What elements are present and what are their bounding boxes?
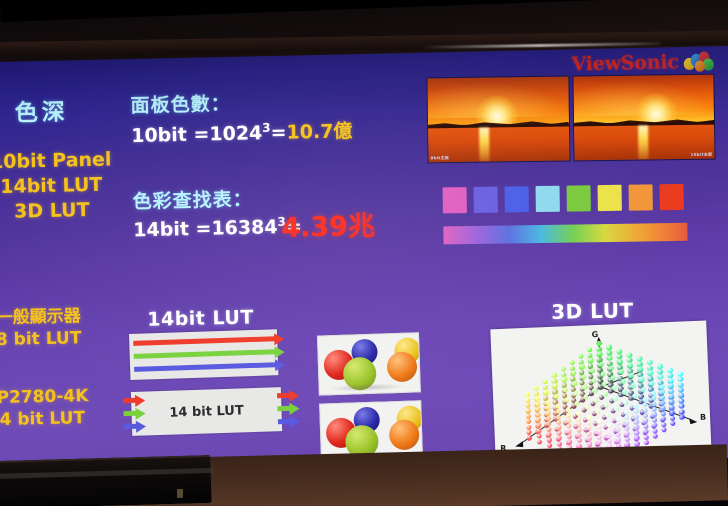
cube-color-dot	[582, 384, 588, 390]
presentation-slide: ViewSonic 色深 10bit Panel 14bit LUT 3D LU…	[0, 46, 728, 474]
cube-color-dot	[586, 431, 592, 437]
color-swatch	[505, 186, 529, 212]
cube-color-dot	[587, 442, 593, 448]
cube-color-dot	[545, 410, 551, 416]
panel-colors-eq-equals: =	[270, 122, 286, 144]
color-swatch	[443, 187, 467, 213]
cube-color-dot	[634, 425, 640, 431]
cube-color-dot	[567, 439, 573, 445]
panel-colors-result: 10.7億	[286, 120, 352, 143]
cube-color-dot	[642, 407, 648, 413]
cube-color-dot	[557, 441, 563, 447]
color-swatch	[474, 187, 498, 213]
cube-color-dot	[592, 388, 598, 394]
cube-color-dot	[556, 425, 562, 431]
lut3d-cube-panel: G B R	[490, 321, 711, 460]
cube-color-dot	[642, 397, 648, 403]
cube-color-dot	[633, 414, 639, 420]
feature-list-item-2: 3D LUT	[0, 197, 117, 225]
cube-color-dot	[623, 399, 629, 405]
blue-channel-output-stub	[278, 419, 291, 424]
cube-color-dot	[591, 378, 597, 384]
cube-color-dot	[588, 357, 594, 363]
lookup-table-result: 4.39兆	[281, 204, 375, 245]
cube-color-dot	[633, 403, 639, 409]
cube-color-dot	[576, 427, 582, 433]
vp-model-line-0: VP2780-4K	[0, 385, 101, 410]
cube-color-dot	[612, 395, 618, 401]
foreground-object-marking	[177, 489, 183, 498]
lut-box-label: 14 bit LUT	[131, 387, 282, 436]
cube-color-dot	[537, 439, 543, 445]
cube-color-dot	[639, 376, 645, 382]
cube-color-dot	[572, 380, 578, 386]
cube-color-dot	[677, 371, 683, 377]
cube-color-dot	[634, 430, 640, 436]
color-spheres-photo-top	[317, 332, 421, 395]
cube-color-dot	[679, 409, 685, 415]
cube-color-dot	[643, 434, 649, 440]
cube-color-dot	[566, 429, 572, 435]
sunset-photo-right: 10bit主板	[572, 74, 716, 162]
cube-color-dot	[640, 387, 646, 393]
cube-color-dot	[621, 389, 627, 395]
color-swatch-row	[443, 184, 684, 214]
sunset-photo-left: 8bit主板	[426, 75, 570, 163]
color-swatch	[629, 184, 653, 210]
cube-color-dot	[652, 412, 658, 418]
color-swatch	[598, 185, 622, 211]
cube-color-dot	[546, 437, 552, 443]
vp-model-label: VP2780-4K 14 bit LUT	[0, 385, 102, 432]
cube-color-dot	[606, 345, 612, 351]
cube-axis-label-g: G	[591, 330, 598, 339]
vp-model-line-1: 14 bit LUT	[0, 407, 102, 432]
cube-color-dot	[632, 393, 638, 399]
cube-color-dot	[571, 370, 577, 376]
generic-monitor-line-0: 一般顯示器	[0, 305, 103, 330]
cube-color-dot	[616, 437, 622, 443]
color-gradient-bar	[443, 223, 687, 245]
cube-color-dot	[544, 389, 550, 395]
cube-color-dot	[596, 429, 602, 435]
cube-color-dot	[562, 377, 568, 383]
lut14-diagram: 14 bit LUT	[121, 329, 296, 442]
cube-color-dot	[526, 424, 532, 430]
cube-color-dot	[535, 412, 541, 418]
lut3d-section-title: 3D LUT	[551, 298, 634, 324]
cube-color-dot	[657, 364, 663, 370]
cube-color-dot	[545, 399, 551, 405]
cube-color-dot	[525, 397, 531, 403]
viewsonic-logo: ViewSonic	[571, 50, 714, 75]
projected-slide-photo: ViewSonic 色深 10bit Panel 14bit LUT 3D LU…	[0, 0, 728, 506]
cube-color-dot	[651, 401, 657, 407]
cube-color-dot	[643, 424, 649, 430]
sunset-photo-pair: 8bit主板 10bit主板	[426, 74, 715, 164]
red-channel-output-stub	[277, 393, 290, 398]
cube-color-dot	[595, 408, 601, 414]
sunset-photo-left-caption: 8bit主板	[430, 155, 449, 161]
cube-color-dot	[579, 364, 585, 370]
red-channel-input-stub	[123, 398, 136, 403]
cube-color-dot	[536, 423, 542, 429]
foreground-dark-object	[0, 455, 212, 506]
feature-list-item-1: 14bit LUT	[0, 172, 117, 200]
cube-color-dot	[596, 418, 602, 424]
green-channel-output-stub	[277, 406, 290, 411]
cube-color-dot	[546, 426, 552, 432]
lut-eq-prefix: 14bit =16384	[133, 216, 278, 241]
blue-channel-input-stub	[124, 424, 137, 429]
cube-color-dot	[630, 383, 636, 389]
lookup-table-equation: 14bit =163843=	[133, 214, 302, 241]
color-swatch	[567, 185, 591, 211]
cube-color-dot	[535, 396, 541, 402]
cube-color-dot	[565, 412, 571, 418]
feature-list-item-0: 10bit Panel	[0, 147, 116, 175]
cube-color-dot	[637, 356, 643, 362]
cube-axis-label-b: B	[700, 413, 706, 422]
gouldian-finch-birds-icon	[684, 51, 714, 72]
sunset-photo-right-caption: 10bit主板	[691, 152, 713, 158]
cube-color-dot	[581, 374, 587, 380]
cube-color-dot	[556, 414, 562, 420]
cube-color-dot	[667, 367, 673, 373]
cube-color-dot	[525, 408, 531, 414]
generic-monitor-line-1: 8 bit LUT	[0, 327, 104, 352]
cube-color-dot	[576, 416, 582, 422]
slide-title: 色深	[14, 92, 69, 127]
panel-colors-equation: 10bit =10243=10.7億	[131, 116, 353, 148]
brand-name-text: ViewSonic	[571, 51, 679, 75]
cube-color-dot	[679, 398, 685, 404]
cube-color-dot	[652, 428, 658, 434]
color-swatch	[536, 186, 560, 212]
cube-color-dot	[586, 415, 592, 421]
cube-color-dot	[590, 368, 596, 374]
cube-color-dot	[627, 352, 633, 358]
cube-color-dot	[678, 393, 684, 399]
generic-monitor-label: 一般顯示器 8 bit LUT	[0, 305, 104, 352]
cube-color-dot	[678, 387, 684, 393]
cube-color-dot	[633, 419, 639, 425]
panel-colors-eq-prefix: 10bit =1024	[131, 122, 263, 147]
cube-color-dot	[660, 406, 666, 412]
lut14-section-title: 14bit LUT	[147, 306, 254, 330]
cube-color-dot	[606, 433, 612, 439]
cube-color-dot	[617, 348, 623, 354]
green-channel-input-stub	[123, 411, 136, 416]
cube-color-dot	[679, 414, 685, 420]
lookup-table-label: 色彩查找表：	[132, 184, 253, 214]
cube-color-dot	[526, 435, 532, 441]
panel-colors-label: 面板色數：	[130, 89, 231, 118]
color-swatch	[660, 184, 684, 210]
cube-color-dot	[643, 418, 649, 424]
feature-list: 10bit Panel 14bit LUT 3D LUT	[0, 147, 117, 225]
cube-color-dot	[678, 382, 684, 388]
color-spheres-photo-pair	[317, 332, 423, 463]
